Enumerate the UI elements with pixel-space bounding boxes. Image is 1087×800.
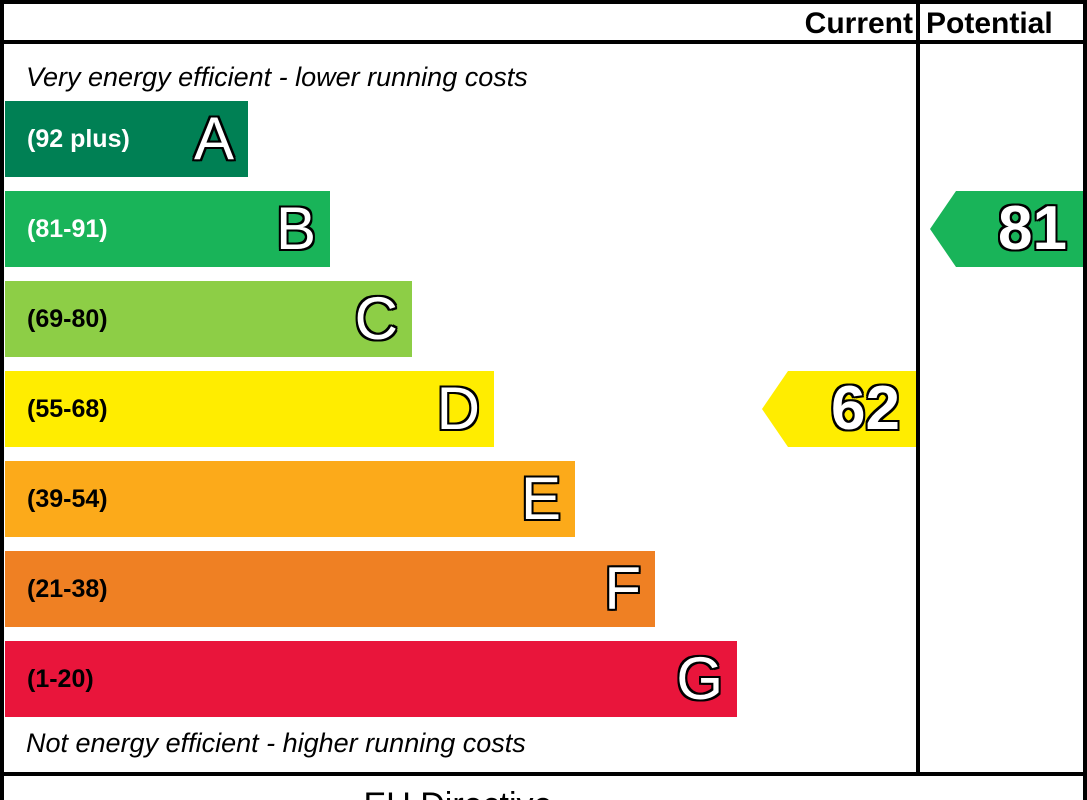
band-range-a: (92 plus) <box>5 127 130 152</box>
band-range-c: (69-80) <box>5 307 108 332</box>
band-row-f: (21-38)F <box>5 551 655 627</box>
body-column-divider <box>916 44 920 772</box>
potential-rating-value: 81 <box>998 198 1083 260</box>
chart-footer-row: EU Directive <box>0 772 1087 800</box>
band-letter-b: B <box>276 199 330 259</box>
column-header-potential: Potential <box>926 4 1053 44</box>
current-rating-value: 62 <box>831 378 916 440</box>
band-row-e: (39-54)E <box>5 461 575 537</box>
current-rating-arrow: 62 <box>762 371 916 447</box>
band-letter-d: D <box>437 379 494 439</box>
eu-directive-label: EU Directive <box>0 786 916 800</box>
chart-body: Very energy efficient - lower running co… <box>0 44 1087 772</box>
band-range-d: (55-68) <box>5 397 108 422</box>
band-row-c: (69-80)C <box>5 281 412 357</box>
band-letter-a: A <box>194 109 248 169</box>
band-row-g: (1-20)G <box>5 641 737 717</box>
potential-rating-arrow: 81 <box>930 191 1083 267</box>
column-header-current: Current <box>805 4 913 44</box>
band-range-e: (39-54) <box>5 487 108 512</box>
band-range-g: (1-20) <box>5 667 94 692</box>
band-range-f: (21-38) <box>5 577 108 602</box>
header-column-divider <box>916 4 920 44</box>
band-row-d: (55-68)D <box>5 371 494 447</box>
band-letter-e: E <box>521 469 575 529</box>
band-letter-g: G <box>676 649 737 709</box>
band-row-a: (92 plus)A <box>5 101 248 177</box>
chart-header-row: Current Potential <box>0 0 1087 44</box>
band-row-b: (81-91)B <box>5 191 330 267</box>
band-letter-f: F <box>604 559 655 619</box>
band-range-b: (81-91) <box>5 217 108 242</box>
bottom-caption: Not energy efficient - higher running co… <box>26 728 526 759</box>
energy-efficiency-rating-chart: Current Potential Very energy efficient … <box>0 0 1087 800</box>
band-letter-c: C <box>355 289 412 349</box>
